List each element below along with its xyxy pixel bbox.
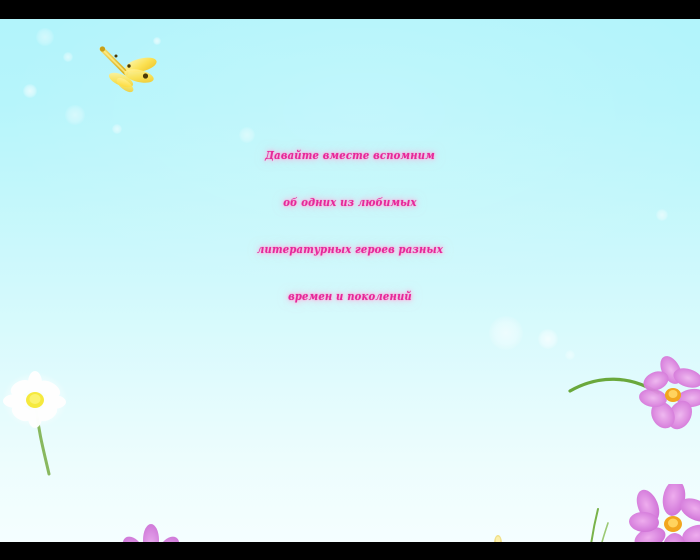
headline-line-2: об одних из любимых	[0, 178, 700, 229]
bokeh-dot	[36, 28, 54, 46]
bokeh-dot	[112, 124, 122, 134]
headline-text-block: Давайте вместе вспомним об одних из люби…	[0, 131, 700, 319]
bokeh-dot	[65, 105, 85, 125]
bokeh-dot	[23, 84, 37, 98]
white-daisy-left	[2, 366, 97, 481]
headline-line-4: времен и поколений	[0, 272, 700, 323]
bokeh-dot	[489, 316, 523, 350]
yellow-bud-bottom	[490, 533, 506, 542]
slide-root: Давайте вместе вспомним об одних из люби…	[0, 0, 700, 560]
yellow-dragonfly-icon	[98, 43, 168, 101]
grass-stems-bottom-right	[578, 507, 628, 542]
bokeh-dot	[239, 127, 255, 143]
slide-canvas: Давайте вместе вспомним об одних из люби…	[0, 19, 700, 542]
pink-flower-bottom-center	[112, 522, 190, 542]
letterbox-bar-top	[0, 0, 700, 19]
bokeh-dot	[656, 209, 668, 221]
pink-cosmos-right	[568, 353, 700, 453]
headline-line-1: Давайте вместе вспомним	[0, 131, 700, 182]
headline-line-3: литературных героев разных	[0, 225, 700, 276]
bokeh-dot	[538, 329, 558, 349]
letterbox-bar-bottom	[0, 542, 700, 560]
bokeh-dot	[63, 52, 73, 62]
